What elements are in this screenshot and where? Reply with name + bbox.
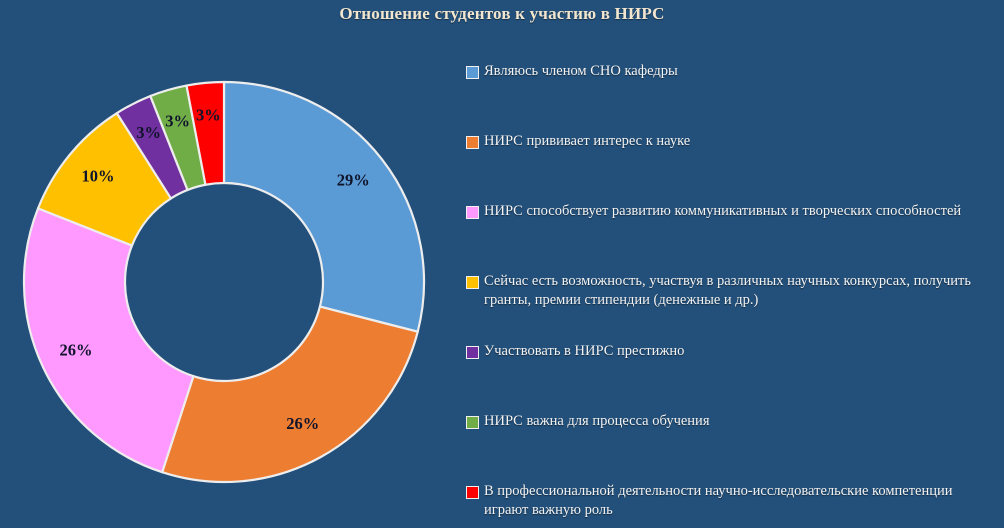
chart-legend: Являюсь членом СНО кафедрыНИРС прививает… [466, 52, 990, 522]
legend-color-swatch-icon [466, 206, 479, 219]
slide-canvas: Отношение студентов к участию в НИРС 29%… [0, 0, 1004, 528]
legend-item[interactable]: Являюсь членом СНО кафедры [466, 62, 986, 81]
legend-item-label: НИРС способствует развитию коммуникативн… [484, 202, 961, 221]
legend-color-swatch-icon [466, 136, 479, 149]
legend-color-swatch-icon [466, 66, 479, 79]
legend-item[interactable]: НИРС способствует развитию коммуникативн… [466, 202, 986, 221]
donut-chart: 29%26%26%10%3%3%3% [18, 76, 430, 488]
legend-item-label: Участвовать в НИРС престижно [484, 342, 684, 361]
legend-item-label: Являюсь членом СНО кафедры [484, 62, 678, 81]
donut-slice[interactable] [24, 208, 193, 472]
donut-slice[interactable] [224, 82, 424, 332]
donut-slice-label: 26% [286, 414, 319, 433]
donut-slice-label: 26% [60, 340, 93, 359]
legend-color-swatch-icon [466, 416, 479, 429]
legend-item[interactable]: НИРС прививает интерес к науке [466, 132, 986, 151]
donut-slice-label: 3% [165, 111, 190, 130]
donut-slice-label: 3% [196, 106, 221, 125]
legend-color-swatch-icon [466, 486, 479, 499]
legend-color-swatch-icon [466, 346, 479, 359]
donut-chart-svg: 29%26%26%10%3%3%3% [18, 76, 430, 488]
legend-item[interactable]: Участвовать в НИРС престижно [466, 342, 986, 361]
donut-slices [24, 82, 424, 482]
legend-item[interactable]: В профессиональной деятельности научно-и… [466, 482, 986, 520]
legend-item-label: В профессиональной деятельности научно-и… [484, 482, 986, 520]
legend-item[interactable]: Сейчас есть возможность, участвуя в разл… [466, 272, 986, 310]
donut-slice-label: 10% [82, 167, 115, 186]
donut-slice-label: 3% [136, 123, 161, 142]
donut-slice[interactable] [162, 307, 418, 482]
legend-item-label: НИРС прививает интерес к науке [484, 132, 690, 151]
page-title: Отношение студентов к участию в НИРС [0, 4, 1004, 24]
legend-color-swatch-icon [466, 276, 479, 289]
legend-item-label: НИРС важна для процесса обучения [484, 412, 710, 431]
legend-item-label: Сейчас есть возможность, участвуя в разл… [484, 272, 986, 310]
donut-slice-label: 29% [337, 171, 370, 190]
legend-item[interactable]: НИРС важна для процесса обучения [466, 412, 986, 431]
